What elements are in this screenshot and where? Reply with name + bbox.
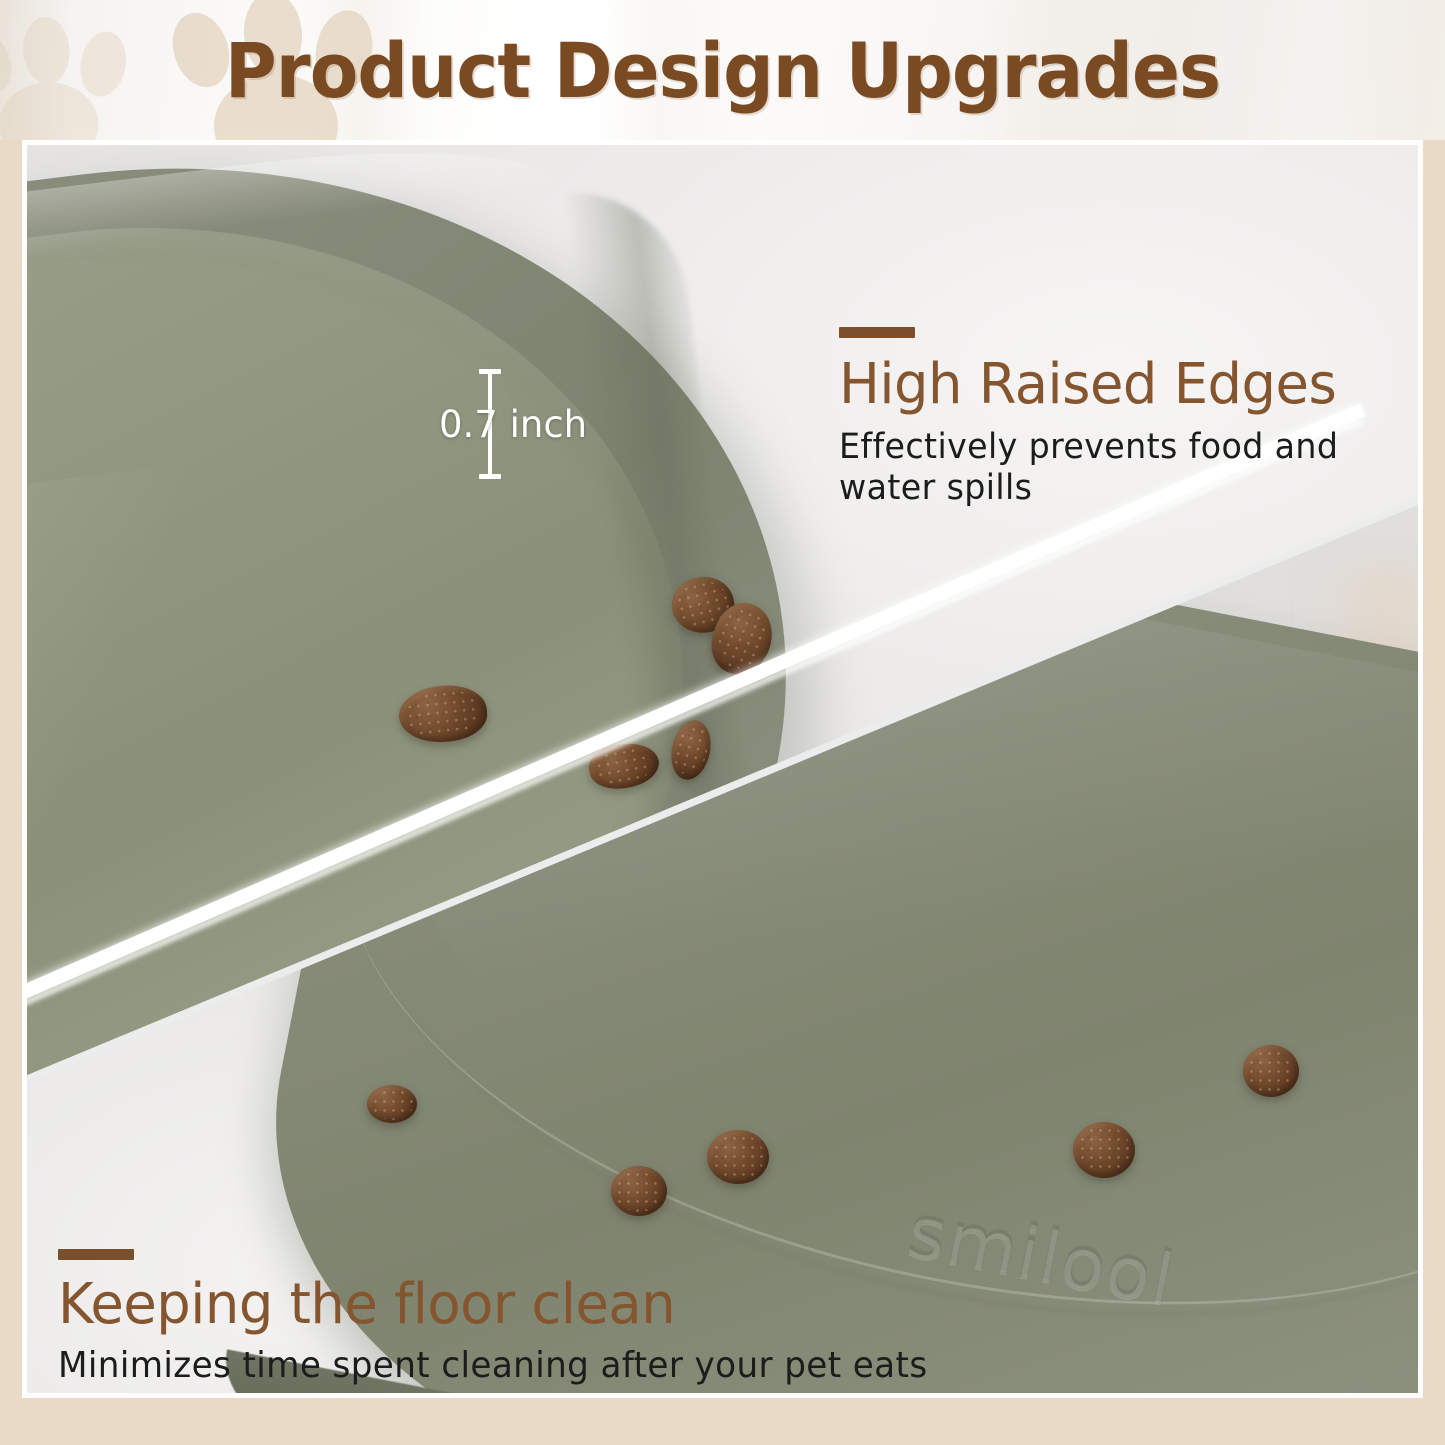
- feature-title: High Raised Edges: [839, 352, 1401, 417]
- feature-title: Keeping the floor clean: [58, 1272, 946, 1337]
- feature-subtitle: Effectively prevents food and water spil…: [839, 427, 1389, 510]
- header-banner: Product Design Upgrades: [0, 0, 1445, 140]
- accent-bar: [839, 327, 915, 338]
- page-title: Product Design Upgrades: [51, 0, 1395, 140]
- kibble-piece: [611, 1166, 667, 1216]
- feature-subtitle: Minimizes time spent cleaning after your…: [58, 1345, 928, 1387]
- kibble-piece: [707, 1130, 769, 1184]
- kibble-piece: [1073, 1122, 1135, 1178]
- feature-block-high-raised-edges: High Raised Edges Effectively prevents f…: [839, 327, 1418, 510]
- accent-bar: [58, 1249, 134, 1260]
- kibble-piece: [367, 1085, 417, 1123]
- kibble-piece: [1243, 1045, 1299, 1097]
- dimension-cap-bottom: [479, 474, 501, 479]
- photo-stage: smilool 0.7 inch High Raised Edges Effec…: [27, 145, 1418, 1393]
- product-infographic-poster: Product Design Upgrades: [0, 0, 1445, 1445]
- feature-block-keeping-floor-clean: Keeping the floor clean Minimizes time s…: [58, 1249, 973, 1387]
- dimension-label: 0.7 inch: [439, 403, 587, 446]
